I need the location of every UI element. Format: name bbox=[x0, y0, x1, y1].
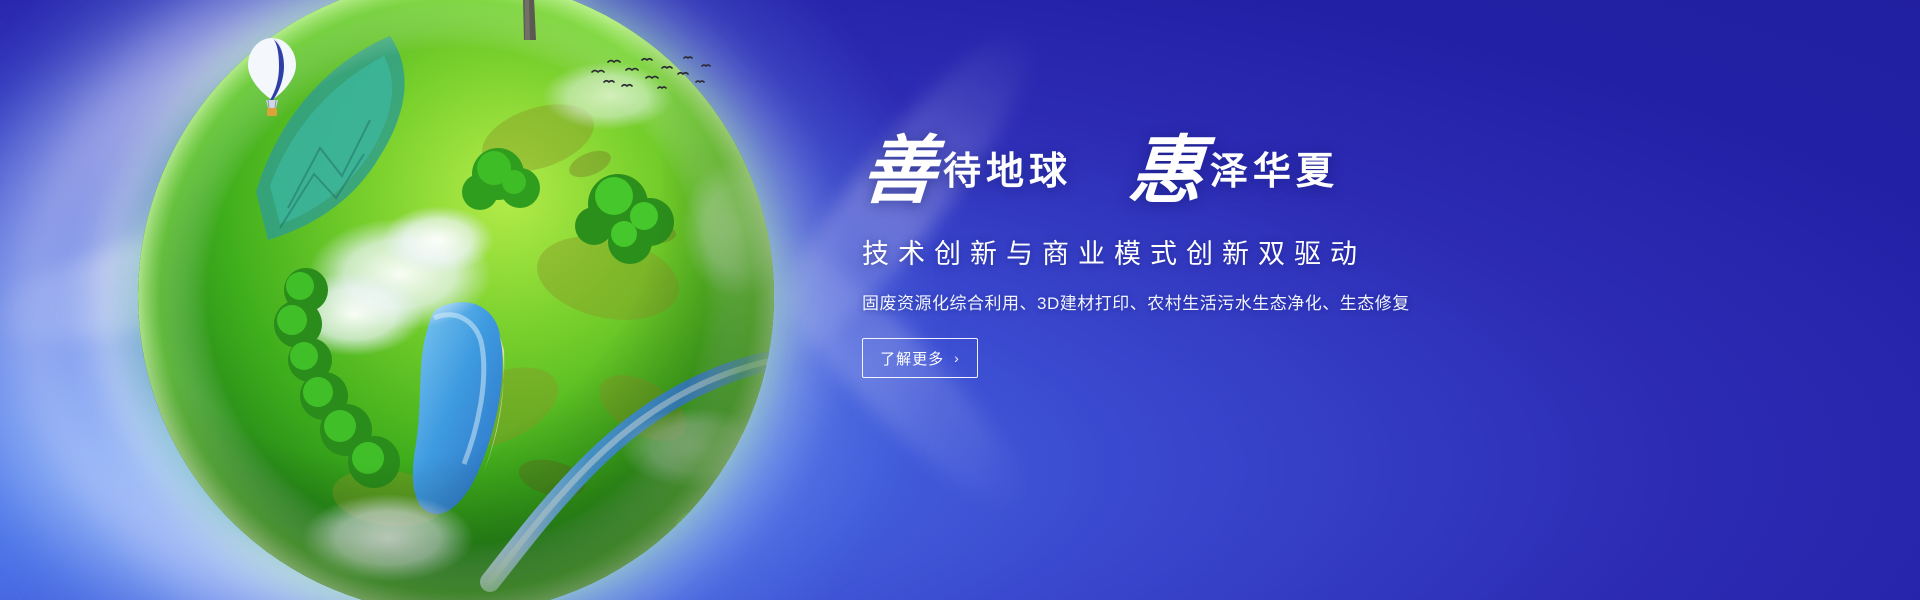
river bbox=[490, 360, 774, 582]
learn-more-label: 了解更多 bbox=[880, 348, 944, 369]
headline: 善待地球 惠泽华夏 bbox=[862, 132, 1562, 218]
cloud-streak-2 bbox=[0, 144, 533, 373]
lake bbox=[413, 302, 503, 514]
surface-clouds bbox=[284, 62, 774, 582]
hero-content: 善待地球 惠泽华夏 技术创新与商业模式创新双驱动 固废资源化综合利用、3D建材打… bbox=[862, 132, 1562, 378]
hot-air-balloon-icon bbox=[246, 36, 298, 126]
cloud-streak-1 bbox=[59, 0, 640, 353]
planet-glow bbox=[78, 0, 834, 600]
hero-subtitle: 技术创新与商业模式创新双驱动 bbox=[862, 232, 1562, 271]
headline-group-1: 善待地球 bbox=[862, 132, 1072, 212]
sky-halo bbox=[0, 0, 990, 600]
bird-flock-icon bbox=[588, 52, 718, 100]
grass-patches bbox=[329, 92, 698, 534]
learn-more-button[interactable]: 了解更多 › bbox=[862, 338, 978, 378]
chevron-right-icon: › bbox=[954, 351, 960, 365]
cloud-streak-3 bbox=[116, 349, 664, 600]
headline-1-big: 善 bbox=[859, 132, 940, 212]
headline-2-small: 泽华夏 bbox=[1204, 132, 1339, 212]
headline-2-big: 惠 bbox=[1126, 132, 1207, 212]
tall-tree bbox=[382, 0, 622, 70]
tree-trunk bbox=[522, 0, 536, 40]
shoreline bbox=[482, 330, 504, 476]
hero-description: 固废资源化综合利用、3D建材打印、农村生活污水生态净化、生态修复 bbox=[862, 289, 1562, 314]
headline-group-2: 惠泽华夏 bbox=[1129, 132, 1339, 212]
hero-banner: 善待地球 惠泽华夏 技术创新与商业模式创新双驱动 固废资源化综合利用、3D建材打… bbox=[0, 0, 1920, 600]
tree-clusters bbox=[274, 148, 762, 590]
headline-1-small: 待地球 bbox=[937, 132, 1072, 212]
